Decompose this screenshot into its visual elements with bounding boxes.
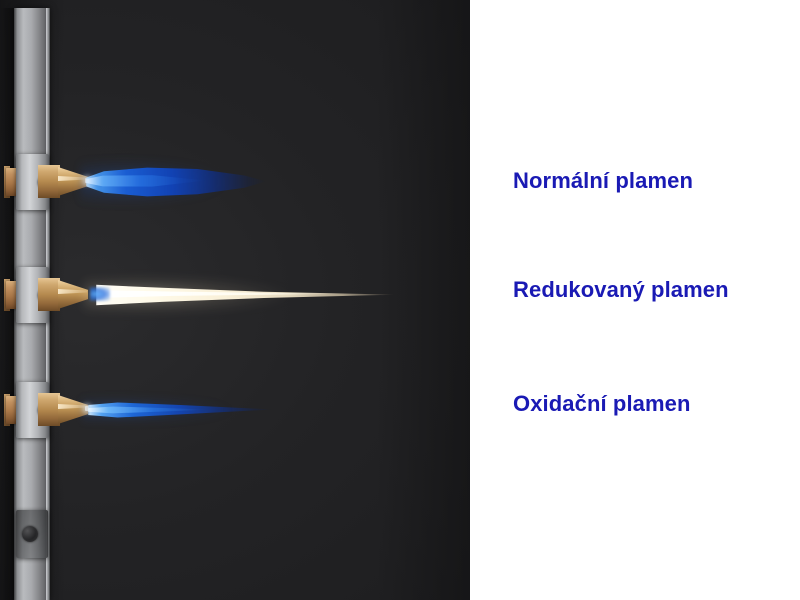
reduction-flame-core bbox=[100, 288, 350, 300]
flame-photograph bbox=[0, 0, 470, 600]
brass-burner-body-icon bbox=[38, 165, 60, 198]
reduction-flame bbox=[96, 280, 396, 310]
brass-burner-body-icon bbox=[38, 278, 60, 311]
nozzle-tip-glow bbox=[85, 406, 89, 411]
burner-reduction bbox=[0, 263, 470, 327]
slide-root: Normální plamen Redukovaný plamen Oxidač… bbox=[0, 0, 800, 600]
oxidation-flame bbox=[88, 401, 273, 419]
brass-nozzle-icon bbox=[58, 167, 88, 196]
label-oxidation-flame: Oxidační plamen bbox=[513, 391, 691, 417]
brass-burner-body-icon bbox=[38, 393, 60, 426]
normal-flame bbox=[86, 164, 266, 200]
normal-flame-core bbox=[86, 174, 206, 188]
burner-normal bbox=[0, 150, 470, 214]
oxidation-flame-core bbox=[88, 406, 213, 414]
brass-nozzle-icon bbox=[58, 395, 88, 424]
oxidation-flame-glow bbox=[82, 392, 312, 428]
brass-nozzle-icon bbox=[58, 280, 88, 309]
label-panel: Normální plamen Redukovaný plamen Oxidač… bbox=[470, 0, 800, 600]
nozzle-tip-glow bbox=[85, 178, 89, 183]
label-normal-flame: Normální plamen bbox=[513, 168, 693, 194]
label-reduction-flame: Redukovaný plamen bbox=[513, 277, 729, 303]
burner-oxidation bbox=[0, 378, 470, 442]
mount-empty bbox=[16, 510, 48, 558]
round-knob-icon[interactable] bbox=[22, 526, 38, 542]
reduction-flame-blue-tip bbox=[90, 287, 110, 301]
normal-flame-glow bbox=[80, 156, 280, 208]
reduction-flame-glow bbox=[84, 271, 414, 319]
